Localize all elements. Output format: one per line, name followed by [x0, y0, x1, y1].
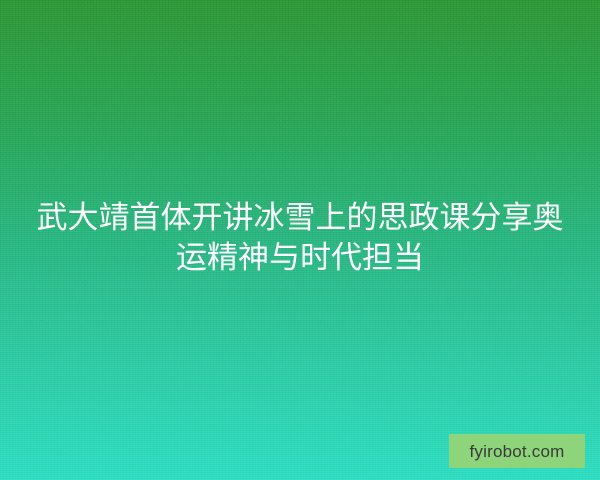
watermark-label: fyirobot.com	[470, 443, 565, 460]
image-card: 武大靖首体开讲冰雪上的思政课分享奥运精神与时代担当 fyirobot.com	[0, 0, 600, 480]
watermark-badge: fyirobot.com	[449, 434, 585, 468]
page-title: 武大靖首体开讲冰雪上的思政课分享奥运精神与时代担当	[0, 198, 600, 278]
